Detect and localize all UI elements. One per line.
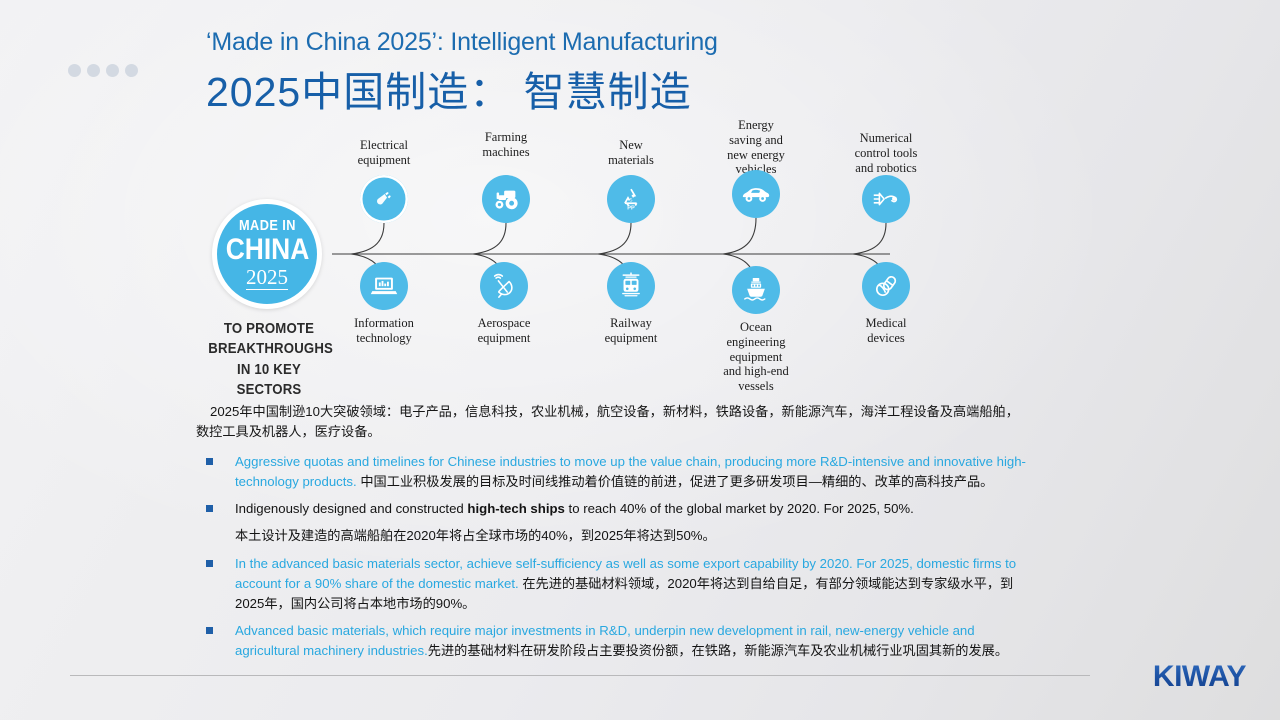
slide-title-chinese: 2025中国制造： 智慧制造: [206, 58, 692, 118]
satellite-dish-icon: [480, 262, 528, 310]
kiway-logo: KIWAY: [1153, 660, 1246, 694]
svg-text:5: 5: [630, 197, 633, 203]
badge-line-1: MADE IN: [239, 218, 296, 233]
bullet-text-4: Advanced basic materials, which require …: [235, 621, 1032, 661]
made-in-china-badge: MADE IN CHINA 2025: [212, 199, 322, 309]
bullet-item-1: Aggressive quotas and timelines for Chin…: [196, 452, 1032, 492]
recycling-pp-icon: 5 PP: [607, 175, 655, 223]
badge-subtitle: TO PROMOTE BREAKTHROUGHS IN 10 KEY SECTO…: [208, 319, 329, 400]
badge-line-2: CHINA: [225, 234, 309, 266]
bullet-text-1: Aggressive quotas and timelines for Chin…: [235, 452, 1032, 492]
bullet-square-icon: [206, 627, 213, 634]
bullet-2-english-pre: Indigenously designed and constructed: [235, 501, 467, 516]
body-content: 2025年中国制逊10大突破领域：电子产品，信息科技，农业机械，航空设备，新材料…: [196, 402, 1032, 669]
car-icon: [732, 170, 780, 218]
train-icon: [607, 262, 655, 310]
tractor-icon: [482, 175, 530, 223]
node-label-information-technology: Informationtechnology: [319, 316, 449, 346]
ship-icon: [732, 266, 780, 314]
decorative-dots: [68, 64, 138, 77]
bullet-square-icon: [206, 560, 213, 567]
bullet-4-chinese: 先进的基础材料在研发阶段占主要投资份额，在铁路，新能源汽车及农业机械行业巩固其新…: [428, 643, 1008, 658]
dot-4: [125, 64, 138, 77]
node-label-numerical-control: Numericalcontrol toolsand robotics: [821, 131, 951, 175]
badge-line-3: 2025: [246, 267, 288, 290]
node-label-new-energy-vehicles: Energysaving andnew energyvehicles: [691, 118, 821, 177]
bullet-2-english-bold: high-tech ships: [467, 501, 564, 516]
lead-paragraph-chinese: 2025年中国制逊10大突破领域：电子产品，信息科技，农业机械，航空设备，新材料…: [196, 402, 1032, 443]
bullet-item-2: Indigenously designed and constructed hi…: [196, 499, 1032, 546]
bullet-2-english-post: to reach 40% of the global market by 202…: [565, 501, 914, 516]
bullet-2-chinese: 本土设计及建造的高端船舶在2020年将占全球市场的40%，到2025年将达到50…: [235, 526, 1032, 546]
robot-arm-icon: [862, 175, 910, 223]
node-label-aerospace-equipment: Aerospaceequipment: [439, 316, 569, 346]
node-label-electrical-equipment: Electricalequipment: [319, 138, 449, 168]
dot-2: [87, 64, 100, 77]
bullet-1-chinese: 中国工业积极发展的目标及时间线推动着价值链的前进，促进了更多研发项目—精细的、改…: [357, 474, 994, 489]
bullet-text-2: Indigenously designed and constructed hi…: [235, 499, 1032, 546]
slide-title-english: ‘Made in China 2025’: Intelligent Manufa…: [206, 28, 718, 57]
node-label-farming-machines: Farmingmachines: [441, 130, 571, 160]
node-label-medical-devices: Medicaldevices: [821, 316, 951, 346]
bullet-square-icon: [206, 458, 213, 465]
bullet-text-3: In the advanced basic materials sector, …: [235, 554, 1032, 615]
node-label-new-materials: Newmaterials: [566, 138, 696, 168]
node-label-ocean-engineering: Oceanengineeringequipmentand high-endves…: [691, 320, 821, 394]
power-plug-icon: [360, 175, 408, 223]
dot-1: [68, 64, 81, 77]
bullet-item-3: In the advanced basic materials sector, …: [196, 554, 1032, 615]
bullet-square-icon: [206, 505, 213, 512]
svg-text:PP: PP: [627, 205, 635, 211]
infographic: MADE IN CHINA 2025 TO PROMOTE BREAKTHROU…: [200, 120, 960, 390]
laptop-chart-icon: [360, 262, 408, 310]
dot-3: [106, 64, 119, 77]
pills-icon: [862, 262, 910, 310]
bullet-item-4: Advanced basic materials, which require …: [196, 621, 1032, 661]
node-label-railway-equipment: Railwayequipment: [566, 316, 696, 346]
footer-divider: [70, 675, 1090, 676]
